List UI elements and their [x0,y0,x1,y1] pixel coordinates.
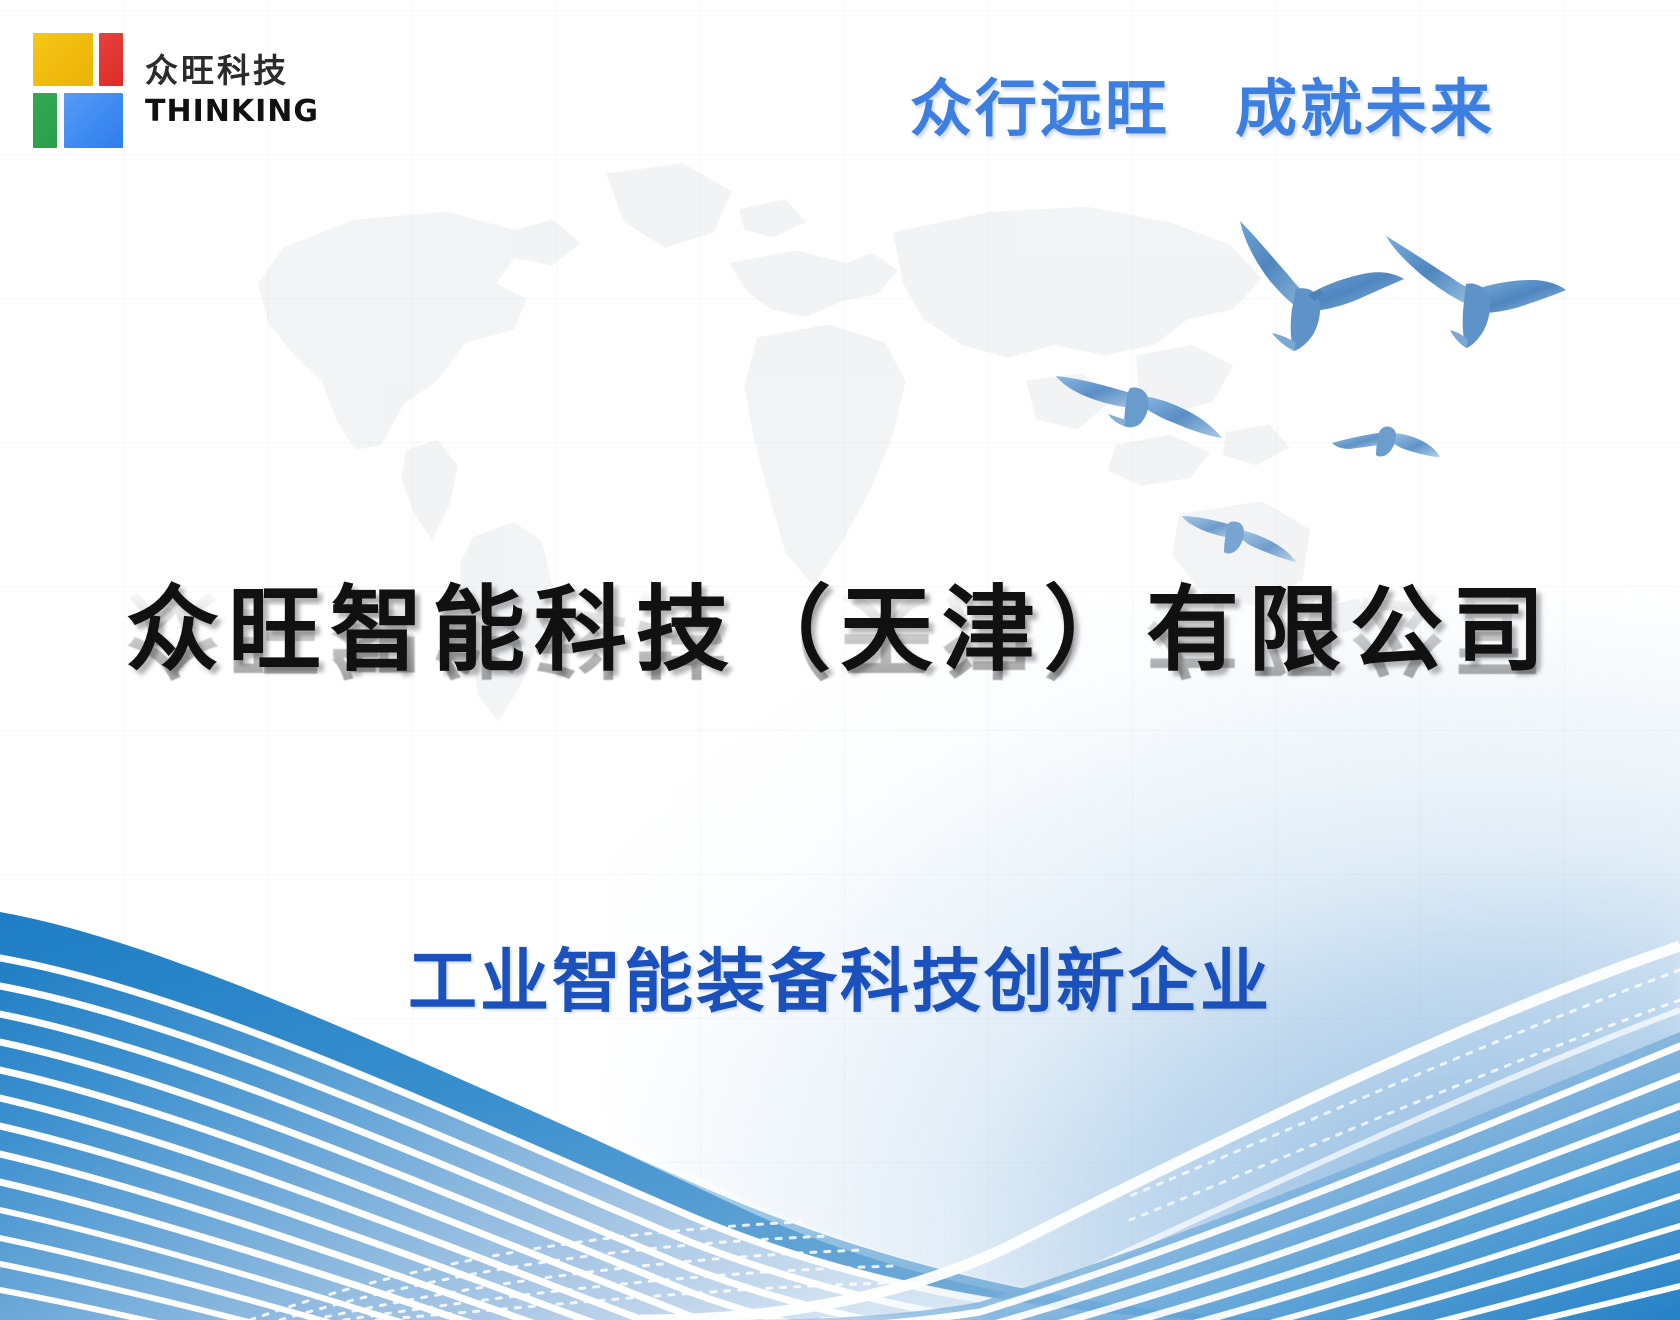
logo-name-en: THINKING [145,97,319,127]
company-logo[interactable]: 众旺科技 THINKING [33,33,319,148]
seagull-icon-5 [1180,500,1300,568]
logo-yellow-block-icon [33,33,93,86]
seagull-icon-3 [1052,358,1224,468]
bottom-wave-decoration [0,850,1680,1320]
seagull-icon-2 [1378,222,1568,352]
header-tagline: 众行远旺 成就未来 [910,58,1495,148]
logo-blue-block-icon [64,93,123,148]
title-slide: 众旺科技 THINKING 众行远旺 成就未来 [0,0,1680,1320]
logo-green-block-icon [33,93,57,148]
logo-name-cn: 众旺科技 [145,54,319,89]
seagull-icon-1 [1198,215,1408,360]
seagull-icon-4 [1330,415,1440,477]
slide-header: 众旺科技 THINKING 众行远旺 成就未来 [0,0,1680,185]
logo-red-block-icon [99,33,123,86]
logo-text-group: 众旺科技 THINKING [145,54,319,127]
logo-mark-icon [33,33,123,148]
main-title-reflection: 众旺智能科技（天津）有限公司 [0,580,1680,684]
title-group: 众旺智能科技（天津）有限公司 众旺智能科技（天津）有限公司 [0,578,1680,788]
